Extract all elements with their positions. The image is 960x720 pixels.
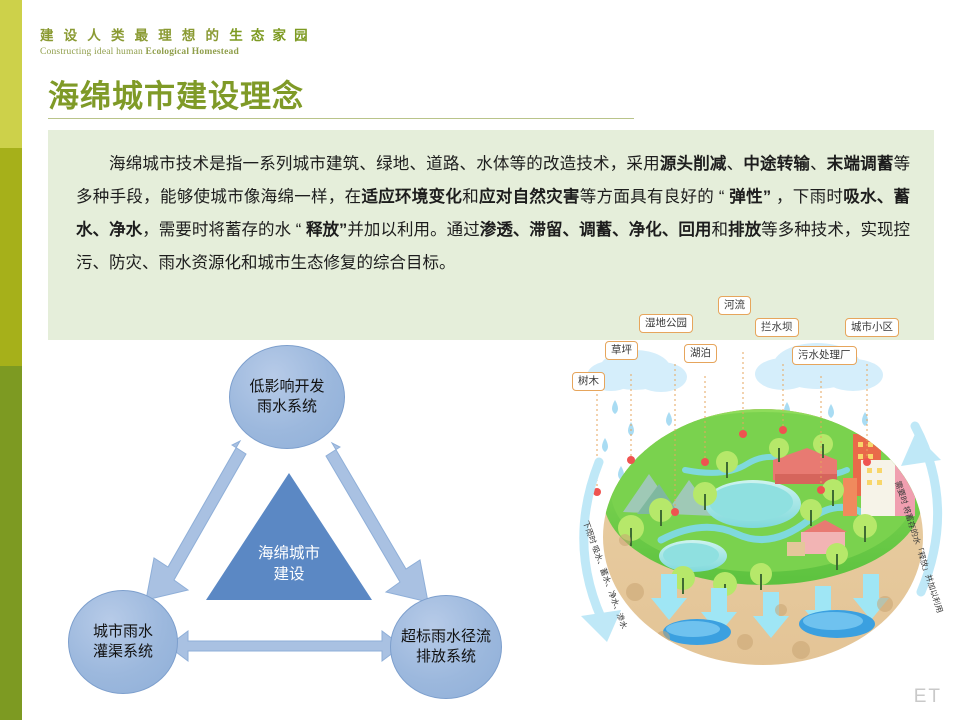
illustration-label-dam[interactable]: 拦水坝	[755, 318, 799, 337]
page-title: 海绵城市建设理念	[48, 71, 304, 116]
body-text: ，下雨时	[771, 188, 843, 206]
sponge-city-illustration: 下雨时 吸水、蓄水、净水、渗水 需要时 将蓄存的水「释放」并加以利用 树木 草坪…	[565, 342, 960, 702]
slide-root: 建 设 人 类 最 理 想 的 生 态 家 园 Constructing ide…	[0, 0, 960, 720]
body-emphasis: 弹性”	[729, 188, 771, 206]
brand-slogan-en: Constructing ideal human Ecological Home…	[40, 47, 310, 57]
body-text: 、	[810, 155, 827, 173]
center-triangle-label: 海绵城市 建设	[210, 543, 368, 585]
illustration-label-trees[interactable]: 树木	[572, 372, 605, 391]
title-divider	[48, 118, 634, 119]
diagram-node-excess-runoff-discharge[interactable]: 超标雨水径流 排放系统	[390, 595, 502, 699]
sidebar-band-middle	[0, 148, 22, 366]
body-paragraph: 海绵城市技术是指一系列城市建筑、绿地、道路、水体等的改造技术，采用源头削减、中途…	[76, 148, 910, 280]
body-emphasis: 源头削减	[660, 155, 727, 173]
earth-cross-section	[603, 409, 923, 669]
sponge-city-triangle-diagram: 海绵城市 建设 低影响开发 雨水系统 城市雨水 灌渠系统 超标雨水径流 排放系统	[60, 345, 560, 695]
body-text: 和	[711, 221, 728, 239]
body-emphasis: 应对自然灾害	[479, 188, 580, 206]
arrow-bottom	[168, 631, 402, 661]
diagram-node-low-impact-development[interactable]: 低影响开发 雨水系统	[229, 345, 345, 449]
body-text: 、	[727, 155, 744, 173]
body-emphasis: 释放”	[306, 221, 347, 239]
diagram-node-urban-stormwater-drainage[interactable]: 城市雨水 灌渠系统	[68, 590, 178, 694]
illustration-graphic: 下雨时 吸水、蓄水、净水、渗水 需要时 将蓄存的水「释放」并加以利用	[565, 342, 960, 702]
brand-slogan-cn-accent: 生 态 家 园	[229, 28, 310, 43]
illustration-label-lake[interactable]: 湖泊	[684, 344, 717, 363]
body-text: 海绵城市技术是指一系列城市建筑、绿地、道路、水体等的改造技术，采用	[109, 155, 660, 173]
brand-logo: 建 设 人 类 最 理 想 的 生 态 家 园 Constructing ide…	[40, 24, 310, 57]
brand-slogan-en-accent: Ecological Homestead	[146, 47, 239, 57]
illustration-label-wetland[interactable]: 湿地公园	[639, 314, 693, 333]
brand-slogan-cn: 建 设 人 类 最 理 想 的 生 态 家 园	[40, 24, 310, 44]
illustration-label-sewage[interactable]: 污水处理厂	[792, 346, 857, 365]
body-text: 等方面具有良好的 “	[580, 188, 730, 206]
body-text: 并加以利用。通过	[347, 221, 479, 239]
body-emphasis: 末端调蓄	[827, 155, 894, 173]
watermark: ET	[914, 686, 942, 708]
illustration-label-lawn[interactable]: 草坪	[605, 341, 638, 360]
body-text: 和	[462, 188, 479, 206]
brand-slogan-cn-plain: 建 设 人 类 最 理 想 的	[40, 28, 229, 43]
body-emphasis: 适应环境变化	[361, 188, 462, 206]
body-emphasis: 排放	[728, 221, 761, 239]
sidebar-band-top	[0, 0, 22, 148]
body-text: ，需要时将蓄存的水 “	[142, 221, 306, 239]
body-textbox: 海绵城市技术是指一系列城市建筑、绿地、道路、水体等的改造技术，采用源头削减、中途…	[48, 130, 934, 340]
sidebar-band-bottom	[0, 366, 22, 720]
brand-slogan-en-plain: Constructing ideal human	[40, 47, 146, 57]
body-emphasis: 渗透、滞留、调蓄、净化、回用	[480, 221, 712, 239]
illustration-label-district[interactable]: 城市小区	[845, 318, 899, 337]
illustration-label-river[interactable]: 河流	[718, 296, 751, 315]
body-emphasis: 中途转输	[743, 155, 810, 173]
